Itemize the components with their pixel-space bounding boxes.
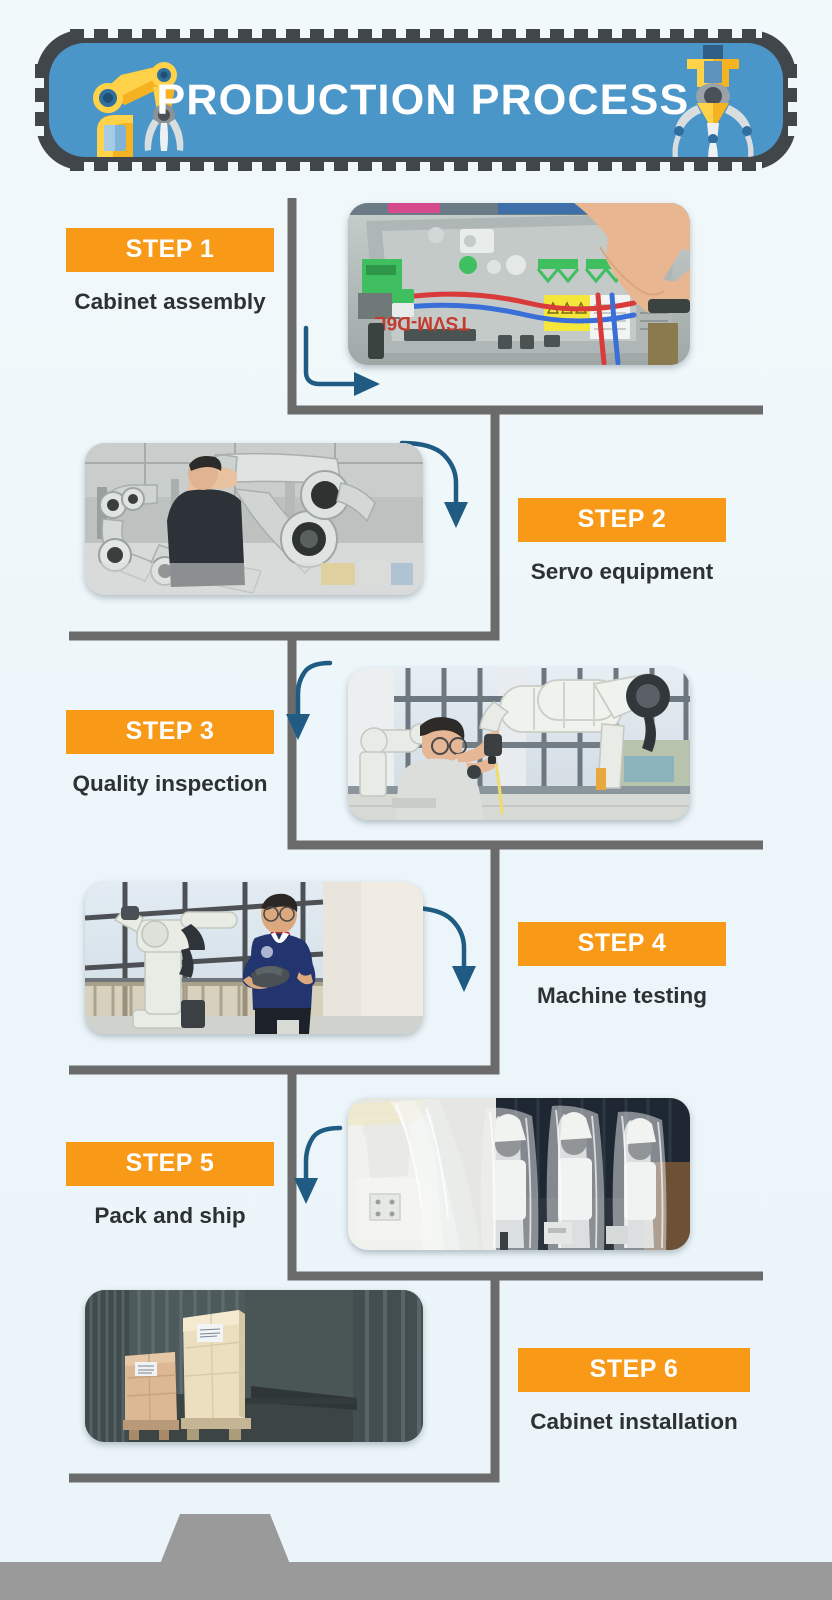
- infographic-page: PRODUCTION PROCESS: [0, 0, 832, 1600]
- step-4-caption: Machine testing: [518, 983, 726, 1009]
- step-3-badge: STEP 3: [66, 710, 274, 754]
- step-block-4: STEP 4 Machine testing: [518, 922, 726, 1009]
- step-6-caption: Cabinet installation: [518, 1409, 750, 1435]
- header-border-right: [788, 64, 797, 136]
- step-block-2: STEP 2 Servo equipment: [518, 498, 726, 585]
- header-border-left: [35, 64, 44, 136]
- step-block-5: STEP 5 Pack and ship: [66, 1142, 274, 1229]
- step-block-6: STEP 6 Cabinet installation: [518, 1348, 750, 1435]
- step-1-photo: TSVM-D6E: [348, 203, 690, 365]
- step-2-caption: Servo equipment: [518, 559, 726, 585]
- header-banner: PRODUCTION PROCESS: [36, 30, 796, 170]
- step-block-1: STEP 1 Cabinet assembly: [66, 228, 274, 315]
- step-2-photo: [85, 443, 423, 595]
- step-4-badge: STEP 4: [518, 922, 726, 966]
- step-3-caption: Quality inspection: [66, 771, 274, 797]
- step-6-photo: [85, 1290, 423, 1442]
- step-2-badge: STEP 2: [518, 498, 726, 542]
- header-inner-panel: PRODUCTION PROCESS: [49, 43, 783, 157]
- page-title: PRODUCTION PROCESS: [157, 76, 690, 125]
- step-6-badge: STEP 6: [518, 1348, 750, 1392]
- step-5-caption: Pack and ship: [66, 1203, 274, 1229]
- step-5-photo: [348, 1098, 690, 1250]
- step-1-badge: STEP 1: [66, 228, 274, 272]
- step-block-3: STEP 3 Quality inspection: [66, 710, 274, 797]
- step-3-photo: [348, 668, 690, 820]
- step-1-caption: Cabinet assembly: [66, 289, 274, 315]
- step-4-photo: [85, 882, 423, 1034]
- step-5-badge: STEP 5: [66, 1142, 274, 1186]
- svg-text:TSVM-D6E: TSVM-D6E: [374, 312, 470, 333]
